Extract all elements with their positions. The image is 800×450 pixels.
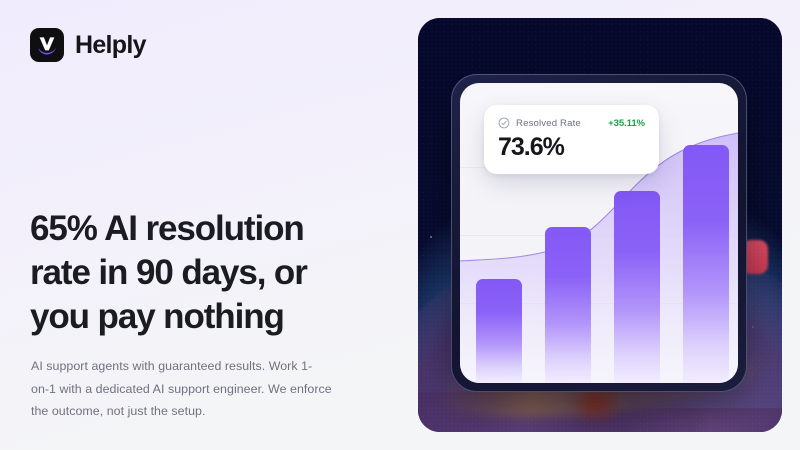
kpi-label-group: Resolved Rate	[498, 117, 581, 129]
subcopy-line-2: on-1 with a dedicated AI support enginee…	[31, 378, 381, 401]
hero-subcopy: AI support agents with guaranteed result…	[31, 355, 381, 423]
bar-4	[683, 145, 729, 383]
kpi-value: 73.6%	[498, 134, 645, 161]
check-circle-icon	[498, 117, 510, 129]
bar-3	[614, 191, 660, 383]
tablet-screen: Resolved Rate +35.11% 73.6%	[460, 83, 738, 383]
tablet-device-frame: Resolved Rate +35.11% 73.6%	[451, 74, 747, 392]
subcopy-line-1: AI support agents with guaranteed result…	[31, 355, 381, 378]
helply-logo-icon	[30, 28, 64, 62]
kpi-label: Resolved Rate	[516, 118, 581, 129]
bar-2	[545, 227, 591, 383]
page-title: 65% AI resolution rate in 90 days, or yo…	[30, 207, 390, 339]
backdrop-star	[752, 326, 754, 328]
kpi-card-header: Resolved Rate +35.11%	[498, 117, 645, 129]
backdrop-star	[430, 236, 432, 238]
headline-line-2: rate in 90 days, or	[30, 251, 390, 295]
kpi-delta-badge: +35.11%	[608, 118, 645, 129]
bar-1	[476, 279, 522, 383]
hero-visual-panel: Resolved Rate +35.11% 73.6%	[418, 18, 782, 432]
brand-name: Helply	[75, 33, 146, 58]
subcopy-line-3: the outcome, not just the setup.	[31, 400, 381, 423]
resolved-rate-card[interactable]: Resolved Rate +35.11% 73.6%	[484, 105, 659, 174]
hero-left-column: Helply 65% AI resolution rate in 90 days…	[0, 0, 410, 450]
brand-logo[interactable]: Helply	[30, 28, 380, 62]
headline-line-3: you pay nothing	[30, 295, 390, 339]
headline-line-1: 65% AI resolution	[30, 207, 390, 251]
